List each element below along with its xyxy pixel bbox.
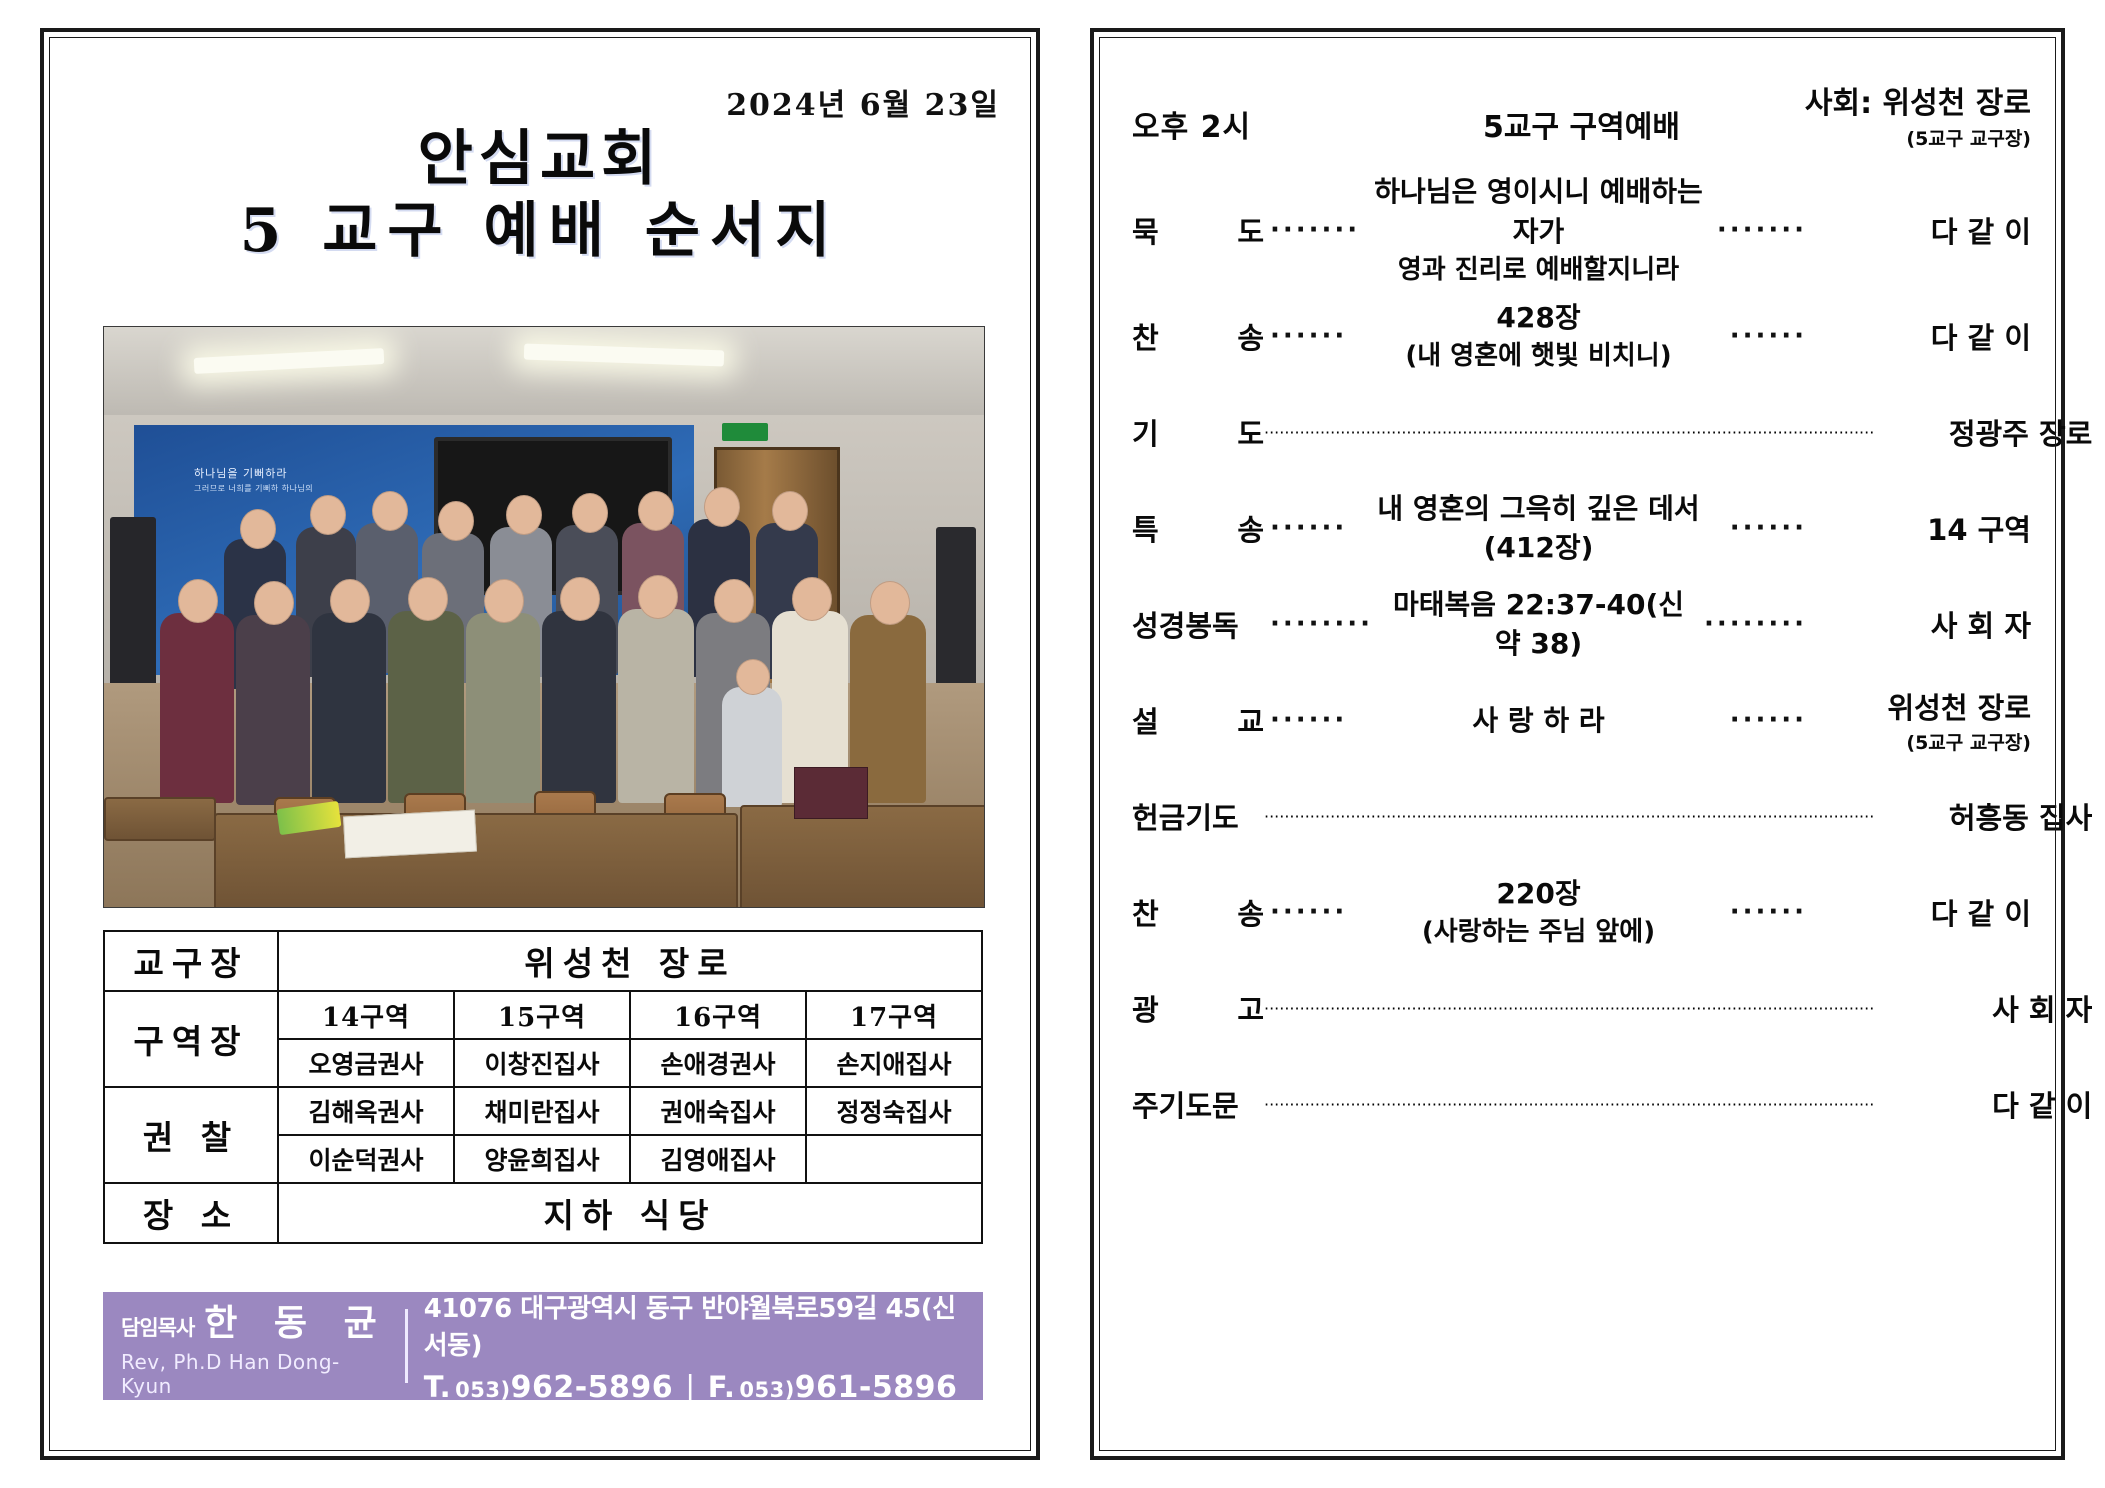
order-leader-dots: ········································… bbox=[1264, 423, 1874, 442]
order-leader-dots: ········································… bbox=[1264, 999, 1874, 1018]
photo-person-head bbox=[506, 495, 542, 535]
order-label-char: 설 bbox=[1132, 699, 1159, 741]
photo-person-head bbox=[330, 579, 370, 623]
district-info-table: 교구장 위성천 장로 구역장 14구역 15구역 16구역 17구역 오영금권사… bbox=[103, 930, 983, 1244]
order-dots-left: ······ bbox=[1264, 321, 1353, 351]
service-leader-block: 사회: 위성천 장로 (5교구 교구장) bbox=[1805, 78, 2031, 151]
patrol-16-2: 김영애집사 bbox=[630, 1135, 806, 1183]
fax-label: F. bbox=[708, 1370, 736, 1404]
order-item-content: 마태복음 22:37-40(신약 38) bbox=[1379, 585, 1698, 665]
order-row: 묵도·······하나님은 영이시니 예배하는 자가영과 진리로 예배할지니라·… bbox=[1132, 172, 2031, 288]
order-assignee-name: 다 같 이 bbox=[1931, 215, 2031, 249]
fax-area-code: 053) bbox=[739, 1378, 794, 1402]
patrol-14-1: 김해옥권사 bbox=[278, 1087, 454, 1135]
order-label-char: 도 bbox=[1237, 411, 1264, 453]
photo-table-left bbox=[104, 797, 216, 841]
value-district-head: 위성천 장로 bbox=[278, 931, 982, 991]
photo-person-head bbox=[638, 575, 678, 619]
table-row-district: 교구장 위성천 장로 bbox=[104, 931, 982, 991]
patrol-17-2 bbox=[806, 1135, 982, 1183]
order-dots-right: ······· bbox=[1711, 215, 1813, 245]
zone-leader-17: 손지애집사 bbox=[806, 1039, 982, 1087]
zone-header-14: 14구역 bbox=[278, 991, 454, 1039]
photo-person bbox=[312, 613, 386, 803]
order-item-label: 묵도 bbox=[1132, 209, 1264, 251]
pastor-name: 한 동 균 bbox=[204, 1294, 388, 1346]
order-item-assignee: 사 회 자 bbox=[1813, 603, 2031, 645]
order-item-assignee: 허흥동 집사 bbox=[1874, 795, 2092, 837]
label-place: 장 소 bbox=[104, 1183, 278, 1243]
photo-person-head bbox=[704, 487, 740, 527]
photo-person-head bbox=[372, 491, 408, 531]
order-content-line1: 내 영혼의 그윽히 깊은 데서 (412장) bbox=[1359, 489, 1717, 569]
order-label-char: 교 bbox=[1237, 699, 1264, 741]
order-item-label: 기도 bbox=[1132, 411, 1264, 453]
order-content-line2: (사랑하는 주님 앞에) bbox=[1359, 914, 1717, 951]
order-dots-right: ········ bbox=[1698, 609, 1813, 639]
patrol-14-2: 이순덕권사 bbox=[278, 1135, 454, 1183]
photo-person-head bbox=[714, 579, 754, 623]
order-item-label: 광고 bbox=[1132, 987, 1264, 1029]
order-content-line2: 영과 진리로 예배할지니라 bbox=[1372, 252, 1705, 289]
zone-header-17: 17구역 bbox=[806, 991, 982, 1039]
order-item-assignee: 정광주 장로 bbox=[1874, 411, 2092, 453]
order-dots-left: ······ bbox=[1264, 705, 1353, 735]
bulletin-date: 2024년 6월 23일 bbox=[726, 80, 1000, 124]
order-item-assignee: 다 같 이 bbox=[1813, 891, 2031, 933]
photo-person-head bbox=[638, 491, 674, 531]
pastor-line: 담임목사 한 동 균 bbox=[121, 1294, 389, 1346]
order-content-line1: 428장 bbox=[1359, 298, 1717, 338]
order-item-content: 428장(내 영혼에 햇빛 비치니) bbox=[1353, 298, 1723, 375]
order-item-label: 헌금기도 bbox=[1132, 795, 1264, 837]
order-label-char: 송 bbox=[1237, 891, 1264, 933]
zone-header-15: 15구역 bbox=[454, 991, 630, 1039]
order-assignee-name: 정광주 장로 bbox=[1949, 417, 2093, 451]
photo-speaker-left bbox=[110, 517, 156, 697]
order-item-content: 220장(사랑하는 주님 앞에) bbox=[1353, 874, 1723, 951]
banner-text-line1: 하나님을 기뻐하라 bbox=[194, 465, 287, 481]
order-assignee-name: 다 같 이 bbox=[1992, 1089, 2092, 1123]
order-of-service: 오후 2시 5교구 구역예배 사회: 위성천 장로 (5교구 교구장) 묵도··… bbox=[1132, 78, 2031, 1426]
photo-person-head bbox=[572, 493, 608, 533]
order-content-line1: 220장 bbox=[1359, 874, 1717, 914]
order-content-line1: 사 랑 하 라 bbox=[1359, 701, 1717, 741]
order-assignee-name: 사 회 자 bbox=[1992, 993, 2092, 1027]
pastor-title: 담임목사 bbox=[121, 1312, 194, 1342]
patrol-16-1: 권애숙집사 bbox=[630, 1087, 806, 1135]
photo-person bbox=[388, 611, 464, 803]
order-row: 성경봉독········마태복음 22:37-40(신약 38)········… bbox=[1132, 576, 2031, 672]
order-leader-dots: ········································… bbox=[1264, 1095, 1874, 1114]
order-item-content: 하나님은 영이시니 예배하는 자가영과 진리로 예배할지니라 bbox=[1366, 172, 1711, 288]
photo-exit-sign bbox=[722, 423, 768, 441]
photo-bag bbox=[794, 767, 868, 819]
group-photo-scene: 하나님을 기뻐하라 그러므로 너희를 기뻐하 하나님의 안심교회 bbox=[104, 327, 984, 907]
zone-leader-16: 손애경권사 bbox=[630, 1039, 806, 1087]
order-row: 찬송······220장(사랑하는 주님 앞에)······다 같 이 bbox=[1132, 864, 2031, 960]
group-photo: 하나님을 기뻐하라 그러므로 너희를 기뻐하 하나님의 안심교회 bbox=[103, 326, 985, 908]
contact-block: 41076 대구광역시 동구 반야월북로59길 45(신서동) T. 053) … bbox=[424, 1288, 965, 1405]
order-assignee-name: 14 구역 bbox=[1927, 513, 2031, 547]
photo-person-head bbox=[240, 509, 276, 549]
order-item-assignee: 다 같 이 bbox=[1813, 315, 2031, 357]
photo-person-head bbox=[792, 577, 832, 621]
photo-person-head bbox=[484, 579, 524, 623]
order-dots-left: ········ bbox=[1264, 609, 1379, 639]
order-label-char: 고 bbox=[1237, 987, 1264, 1029]
service-leader-note: (5교구 교구장) bbox=[1805, 124, 2031, 151]
order-item-label: 특송 bbox=[1132, 507, 1264, 549]
pastor-name-roman: Rev, Ph.D Han Dong-Kyun bbox=[121, 1350, 389, 1398]
order-assignee-name: 다 같 이 bbox=[1931, 897, 2031, 931]
footer-divider bbox=[405, 1309, 408, 1383]
order-row: 광고······································… bbox=[1132, 960, 2031, 1056]
patrol-17-1: 정정숙집사 bbox=[806, 1087, 982, 1135]
order-label-char: 묵 bbox=[1132, 209, 1159, 251]
photo-person-head bbox=[772, 491, 808, 531]
order-content-line1: 마태복음 22:37-40(신약 38) bbox=[1385, 585, 1692, 665]
church-phone-line: T. 053) 962-5896 | F. 053) 961-5896 bbox=[424, 1370, 965, 1405]
order-item-assignee: 다 같 이 bbox=[1813, 209, 2031, 251]
right-panel: 오후 2시 5교구 구역예배 사회: 위성천 장로 (5교구 교구장) 묵도··… bbox=[1090, 28, 2065, 1460]
photo-person-head bbox=[178, 579, 218, 623]
label-district-head: 교구장 bbox=[104, 931, 278, 991]
order-label-char: 도 bbox=[1237, 209, 1264, 251]
order-item-label: 주기도문 bbox=[1132, 1083, 1264, 1125]
zone-header-16: 16구역 bbox=[630, 991, 806, 1039]
left-panel-inner: 2024년 6월 23일 안심교회 5 교구 예배 순서지 하나님을 기뻐하라 … bbox=[58, 46, 1022, 1442]
left-panel: 2024년 6월 23일 안심교회 5 교구 예배 순서지 하나님을 기뻐하라 … bbox=[40, 28, 1040, 1460]
photo-table-right bbox=[740, 805, 985, 908]
church-address: 41076 대구광역시 동구 반야월북로59길 45(신서동) bbox=[424, 1288, 965, 1362]
order-content-line2: (내 영혼에 햇빛 비치니) bbox=[1359, 338, 1717, 375]
order-label-char: 송 bbox=[1237, 315, 1264, 357]
photo-person bbox=[466, 613, 540, 803]
photo-person-head bbox=[438, 501, 474, 541]
table-row-patrol-1: 권 찰 김해옥권사 채미란집사 권애숙집사 정정숙집사 bbox=[104, 1087, 982, 1135]
tel-area-code: 053) bbox=[455, 1378, 510, 1402]
photo-paper bbox=[343, 810, 477, 859]
order-row: 찬송······428장(내 영혼에 햇빛 비치니)······다 같 이 bbox=[1132, 288, 2031, 384]
photo-person bbox=[236, 615, 310, 805]
order-item-assignee: 사 회 자 bbox=[1874, 987, 2092, 1029]
zone-leader-14: 오영금권사 bbox=[278, 1039, 454, 1087]
service-header: 오후 2시 5교구 구역예배 사회: 위성천 장로 (5교구 교구장) bbox=[1132, 78, 2031, 150]
order-assignee-name: 사 회 자 bbox=[1931, 609, 2031, 643]
order-item-content: 사 랑 하 라 bbox=[1353, 701, 1723, 741]
service-leader: 사회: 위성천 장로 bbox=[1805, 78, 2031, 122]
order-assignee-name: 허흥동 집사 bbox=[1949, 801, 2093, 835]
order-row: 주기도문····································… bbox=[1132, 1056, 2031, 1152]
banner-text-line2: 그러므로 너희를 기뻐하 하나님의 bbox=[194, 483, 313, 494]
photo-person-head bbox=[408, 577, 448, 621]
order-items-list: 묵도·······하나님은 영이시니 예배하는 자가영과 진리로 예배할지니라·… bbox=[1132, 172, 2031, 1152]
order-label-char: 광 bbox=[1132, 987, 1159, 1029]
church-contact-footer: 담임목사 한 동 균 Rev, Ph.D Han Dong-Kyun 41076… bbox=[103, 1292, 983, 1400]
photo-person bbox=[618, 609, 694, 803]
photo-person-head bbox=[560, 577, 600, 621]
order-row: 기도······································… bbox=[1132, 384, 2031, 480]
photo-person-head bbox=[254, 581, 294, 625]
order-dots-left: ······ bbox=[1264, 513, 1353, 543]
order-assignee-note: (5교구 교구장) bbox=[1813, 728, 2031, 755]
table-row-zone-headers: 구역장 14구역 15구역 16구역 17구역 bbox=[104, 991, 982, 1039]
order-dots-right: ······ bbox=[1724, 705, 1813, 735]
page-title: 안심교회 5 교구 예배 순서지 bbox=[58, 126, 1022, 267]
order-dots-right: ······ bbox=[1724, 513, 1813, 543]
order-item-label: 성경봉독 bbox=[1132, 603, 1264, 645]
bulletin-subtitle: 5 교구 예배 순서지 bbox=[58, 195, 1022, 267]
order-label-char: 기 bbox=[1132, 411, 1159, 453]
photo-child bbox=[722, 687, 782, 807]
order-row: 설교······사 랑 하 라······위성천 장로(5교구 교구장) bbox=[1132, 672, 2031, 768]
order-content-line1: 하나님은 영이시니 예배하는 자가 bbox=[1372, 172, 1705, 252]
tel-label: T. bbox=[424, 1370, 451, 1404]
order-row: 헌금기도····································… bbox=[1132, 768, 2031, 864]
order-dots-left: ······· bbox=[1264, 215, 1366, 245]
table-row-place: 장 소 지하 식당 bbox=[104, 1183, 982, 1243]
bulletin-page: 2024년 6월 23일 안심교회 5 교구 예배 순서지 하나님을 기뻐하라 … bbox=[0, 0, 2105, 1488]
order-label-char: 송 bbox=[1237, 507, 1264, 549]
order-item-label: 찬송 bbox=[1132, 315, 1264, 357]
phone-separator: | bbox=[685, 1370, 696, 1405]
label-patrol: 권 찰 bbox=[104, 1087, 278, 1183]
photo-child-head bbox=[736, 659, 770, 695]
order-label-char: 찬 bbox=[1132, 891, 1159, 933]
photo-person-head bbox=[310, 495, 346, 535]
church-name: 안심교회 bbox=[58, 126, 1022, 193]
patrol-15-2: 양윤희집사 bbox=[454, 1135, 630, 1183]
photo-speaker-right bbox=[936, 527, 976, 687]
order-item-content: 내 영혼의 그윽히 깊은 데서 (412장) bbox=[1353, 489, 1723, 569]
order-label-char: 특 bbox=[1132, 507, 1159, 549]
order-item-assignee: 14 구역 bbox=[1813, 507, 2031, 549]
order-dots-right: ······ bbox=[1724, 321, 1813, 351]
order-leader-dots: ········································… bbox=[1264, 807, 1874, 826]
order-row: 특송······내 영혼의 그윽히 깊은 데서 (412장)······14 구… bbox=[1132, 480, 2031, 576]
order-label-char: 찬 bbox=[1132, 315, 1159, 357]
photo-person-head bbox=[870, 581, 910, 625]
order-dots-left: ······ bbox=[1264, 897, 1353, 927]
order-assignee-name: 다 같 이 bbox=[1931, 321, 2031, 355]
tel-number: 962-5896 bbox=[511, 1370, 674, 1405]
patrol-15-1: 채미란집사 bbox=[454, 1087, 630, 1135]
order-assignee-name: 위성천 장로 bbox=[1888, 691, 2032, 725]
order-item-assignee: 위성천 장로(5교구 교구장) bbox=[1813, 685, 2031, 755]
label-zone-leader: 구역장 bbox=[104, 991, 278, 1087]
order-item-label: 설교 bbox=[1132, 699, 1264, 741]
photo-person bbox=[542, 611, 616, 803]
order-item-assignee: 다 같 이 bbox=[1874, 1083, 2092, 1125]
photo-person bbox=[160, 613, 234, 803]
pastor-block: 담임목사 한 동 균 Rev, Ph.D Han Dong-Kyun bbox=[121, 1294, 389, 1398]
fax-number: 961-5896 bbox=[795, 1370, 958, 1405]
order-dots-right: ······ bbox=[1724, 897, 1813, 927]
value-place: 지하 식당 bbox=[278, 1183, 982, 1243]
order-item-label: 찬송 bbox=[1132, 891, 1264, 933]
zone-leader-15: 이창진집사 bbox=[454, 1039, 630, 1087]
photo-ceiling bbox=[104, 327, 984, 417]
